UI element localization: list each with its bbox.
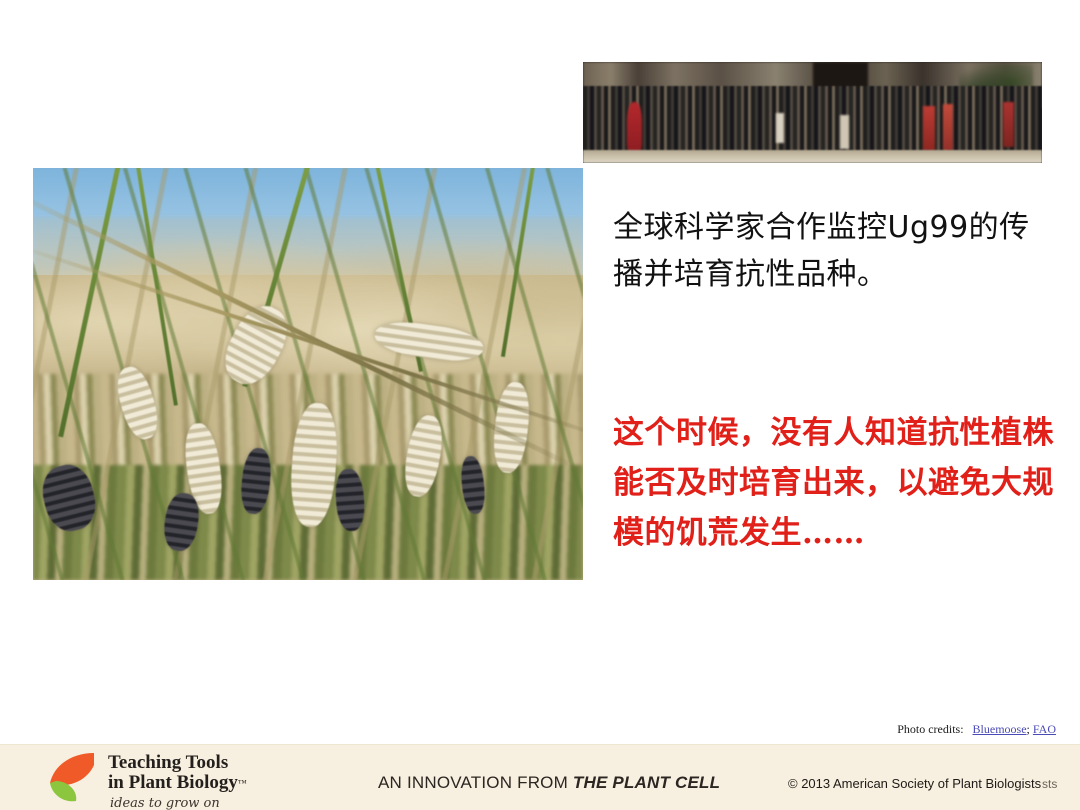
photo-credit-link-bluemoose[interactable]: Bluemoose (973, 722, 1027, 736)
copyright-notice: © 2013 American Society of Plant Biologi… (788, 776, 1041, 791)
group-photo-red-figure (923, 106, 935, 150)
photo-credit-separator: ; (1027, 722, 1030, 736)
group-photo-light-figure (840, 115, 849, 149)
logo-line-two-text: in Plant Biology (108, 772, 238, 793)
wheat-field-photo (33, 168, 583, 580)
trademark-symbol: ™ (238, 778, 247, 788)
teaching-tools-logo: Teaching Tools in Plant Biology™ ideas t… (42, 749, 247, 810)
logo-line-one: Teaching Tools (108, 753, 247, 773)
group-photo-red-figure (627, 102, 643, 153)
innovation-credit: AN INNOVATION FROM THE PLANT CELL (378, 773, 720, 793)
body-paragraph-primary: 全球科学家合作监控Ug99的传播并培育抗性品种。 (613, 205, 1053, 298)
journal-brand-name: THE PLANT CELL (573, 773, 720, 792)
conference-group-photo (583, 62, 1042, 163)
body-paragraph-highlight: 这个时候，没有人知道抗性植株能否及时培育出来，以避免大规模的饥荒发生…… (613, 408, 1063, 559)
group-photo-red-figure (943, 104, 953, 150)
logo-line-two: in Plant Biology™ (108, 773, 247, 793)
group-photo-ground (583, 150, 1042, 163)
slide-footer: Teaching Tools in Plant Biology™ ideas t… (0, 744, 1080, 810)
slide-canvas: 全球科学家合作监控Ug99的传播并培育抗性品种。 这个时候，没有人知道抗性植株能… (0, 0, 1080, 810)
logo-wordmark: Teaching Tools in Plant Biology™ ideas t… (108, 753, 247, 810)
logo-tagline: ideas to grow on (110, 796, 247, 810)
group-photo-head-row (583, 84, 1042, 106)
group-photo-red-figure (1003, 102, 1014, 146)
group-photo-light-figure (776, 113, 784, 143)
photo-credits: Photo credits: Bluemoose; FAO (897, 722, 1056, 737)
copyright-clipped-fragment: sts (1042, 777, 1070, 791)
leaf-logo-icon (42, 751, 100, 807)
photo-credits-label: Photo credits: (897, 722, 963, 736)
innovation-prefix: AN INNOVATION FROM (378, 773, 573, 792)
photo-credit-link-fao[interactable]: FAO (1033, 722, 1056, 736)
